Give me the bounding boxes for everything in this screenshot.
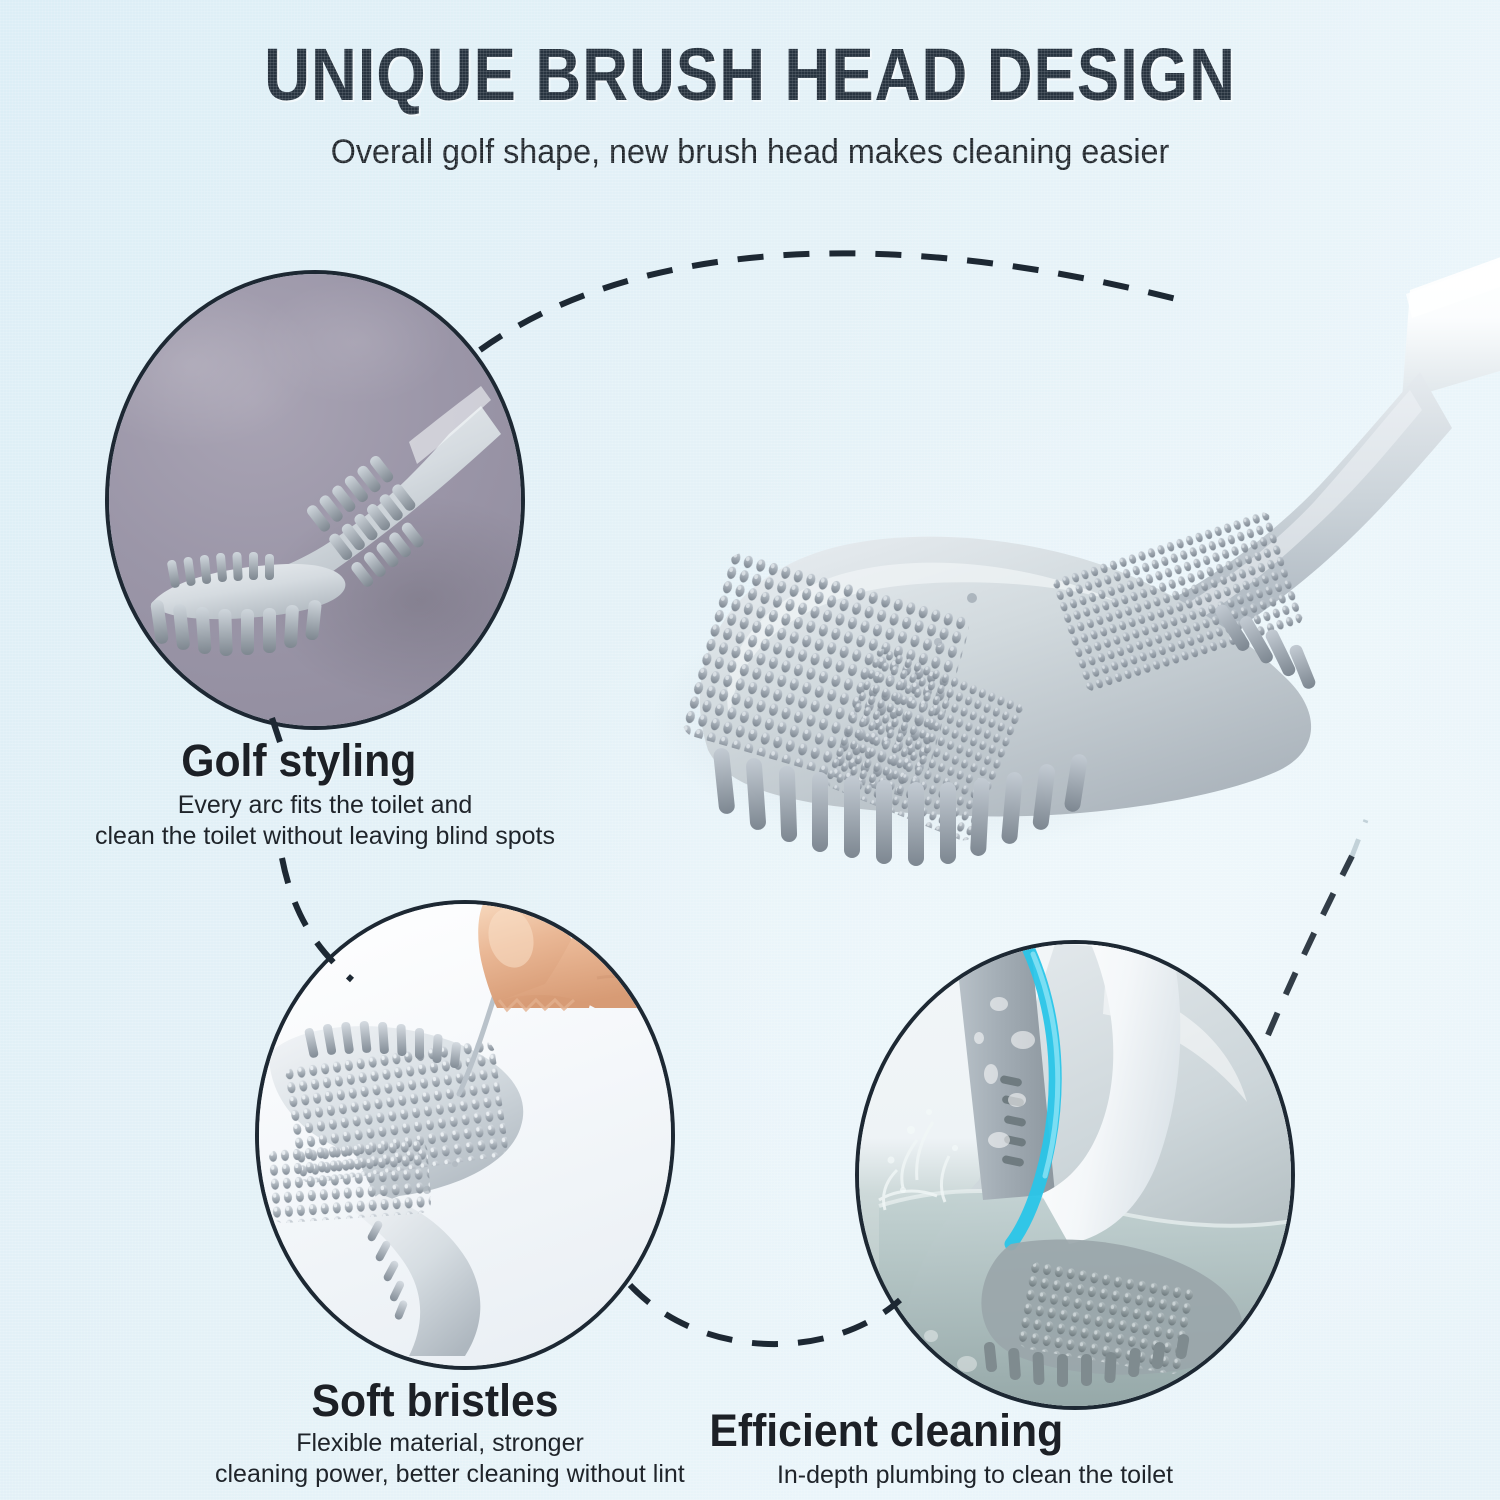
callout-desc-soft-bristles: Flexible material, stronger cleaning pow… (215, 1428, 665, 1489)
callout-desc-line: Every arc fits the toilet and (90, 790, 560, 821)
callout-desc-line: cleaning power, better cleaning without … (215, 1459, 665, 1490)
hand-illustration (478, 904, 675, 1010)
callout-desc-golf-styling: Every arc fits the toilet and clean the … (90, 790, 560, 851)
callout-desc-line: clean the toilet without leaving blind s… (90, 821, 560, 852)
callout-title-efficient-cleaning: Efficient cleaning (709, 1405, 1063, 1457)
callout-image-efficient-cleaning (855, 940, 1295, 1410)
callout-desc-line: Flexible material, stronger (215, 1428, 665, 1459)
callout-image-golf-styling (105, 270, 525, 730)
callout-image-soft-bristles (255, 900, 675, 1370)
callout-title-golf-styling: Golf styling (181, 735, 416, 787)
callout-title-soft-bristles: Soft bristles (312, 1375, 559, 1427)
main-product-image (620, 250, 1500, 900)
page-title: UNIQUE BRUSH HEAD DESIGN (105, 38, 1395, 112)
page-subtitle: Overall golf shape, new brush head makes… (38, 133, 1463, 172)
callout-desc-line: In-depth plumbing to clean the toilet (660, 1460, 1290, 1491)
callout-desc-efficient-cleaning: In-depth plumbing to clean the toilet (660, 1460, 1290, 1491)
infographic-canvas: UNIQUE BRUSH HEAD DESIGN Overall golf sh… (0, 0, 1500, 1500)
